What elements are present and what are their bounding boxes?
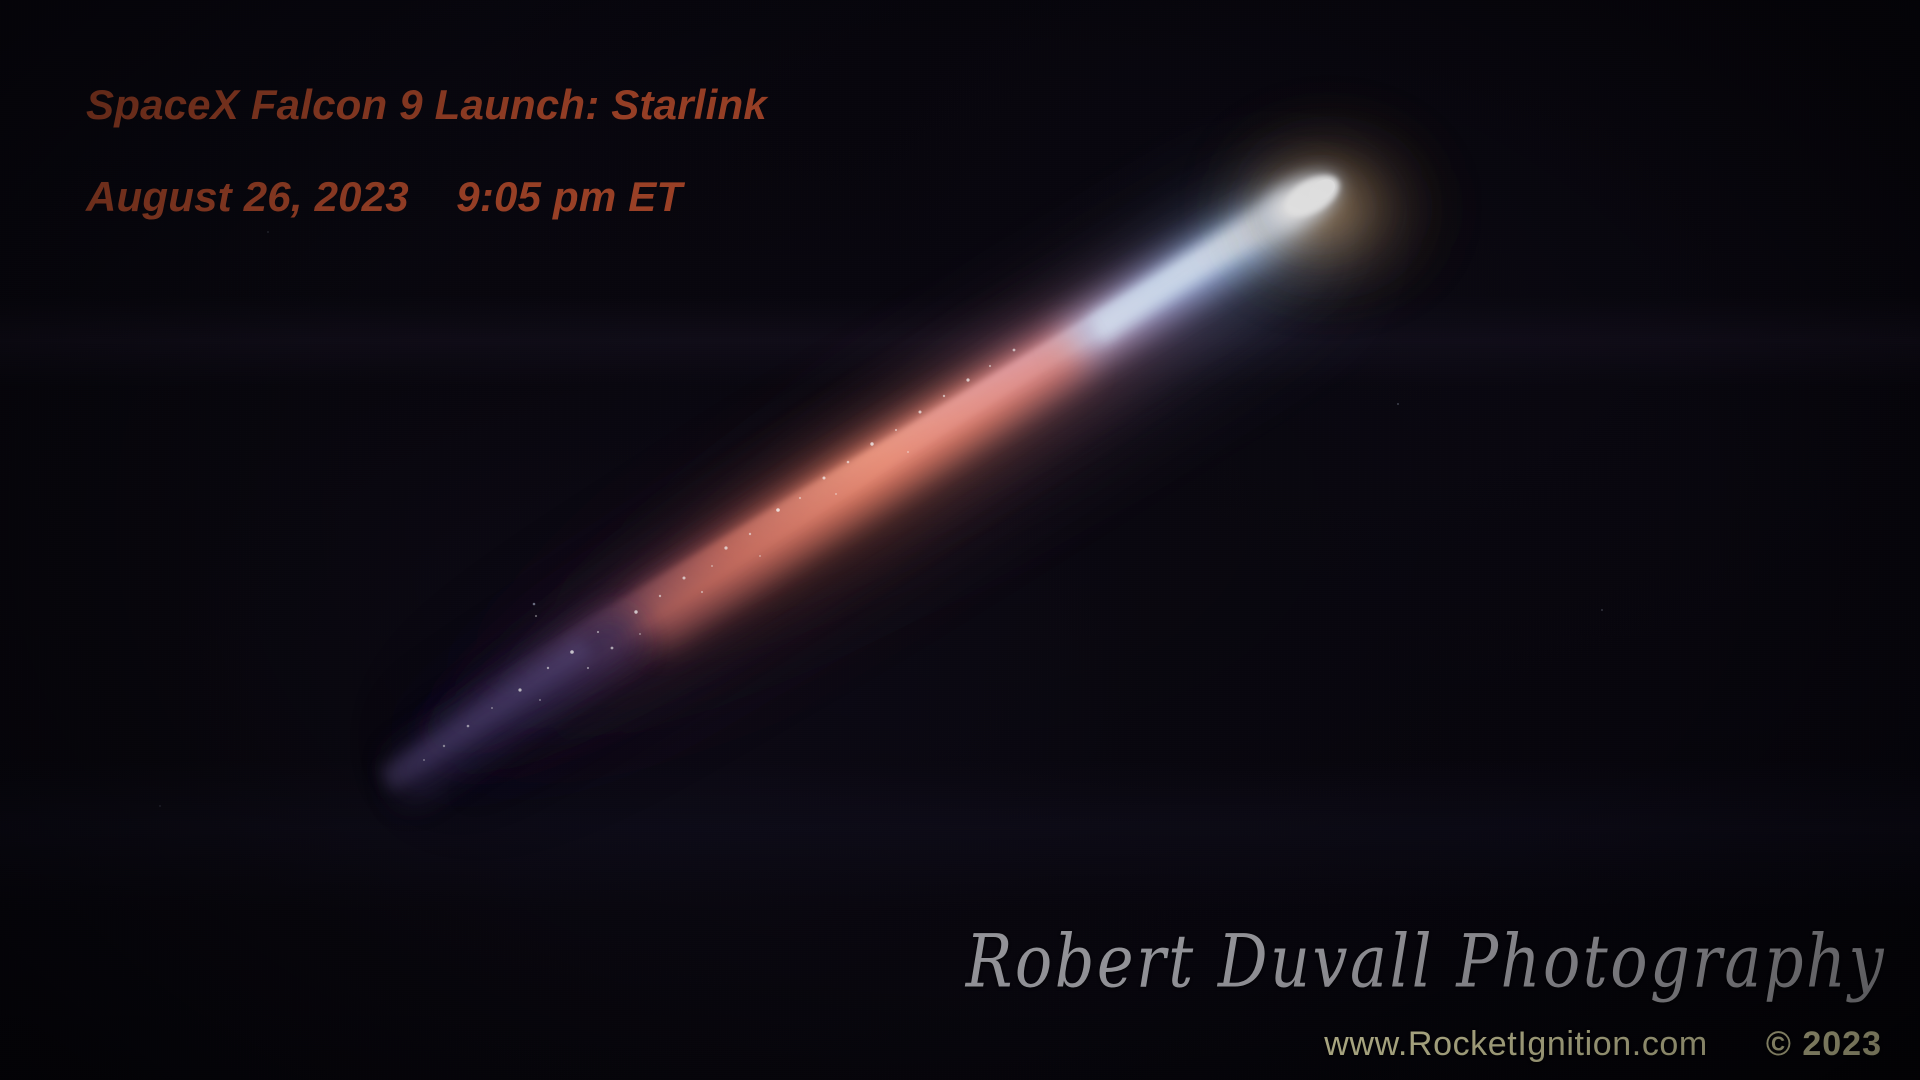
rocket-launch-photograph: SpaceX Falcon 9 Launch: Starlink August … (0, 0, 1920, 1080)
vignette-overlay (0, 0, 1920, 1080)
